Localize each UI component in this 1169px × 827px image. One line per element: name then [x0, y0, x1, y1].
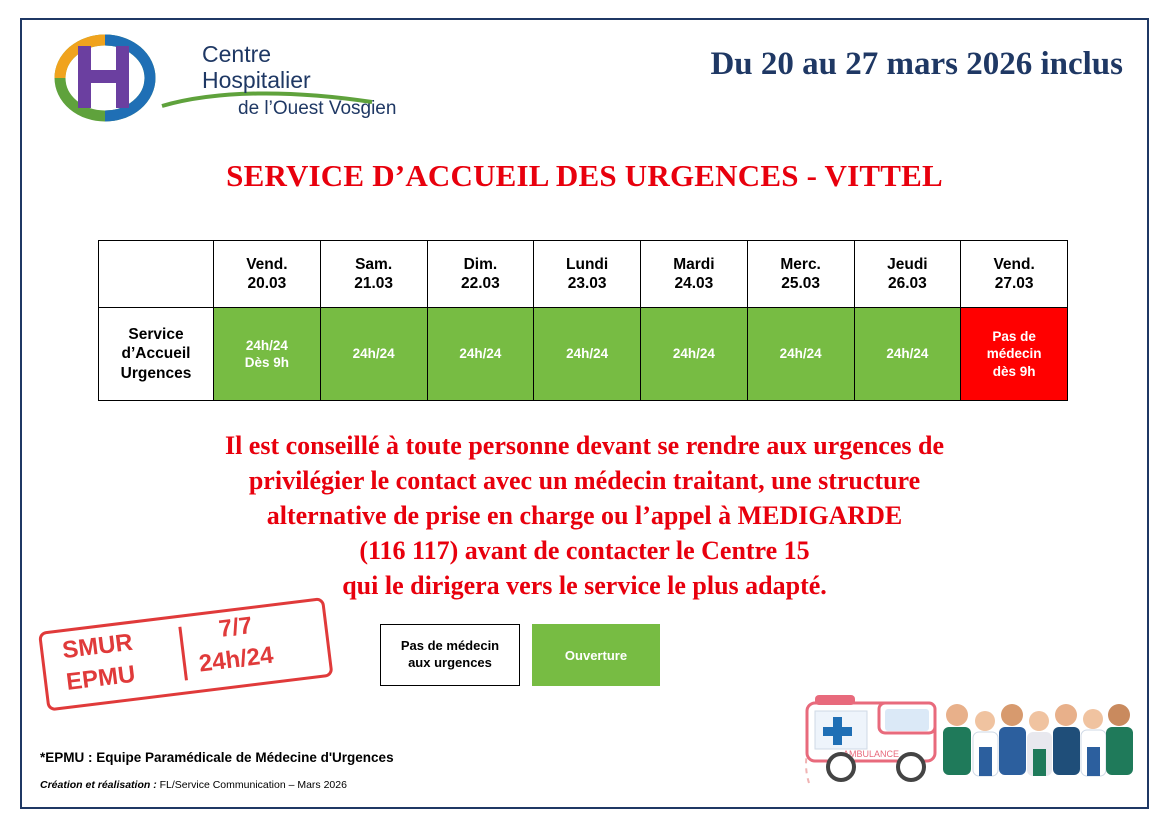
- advice-line-4: (116 117) avant de contacter le Centre 1…: [60, 533, 1109, 568]
- legend-open-label: Ouverture: [565, 648, 627, 663]
- advice-paragraph: Il est conseillé à toute personne devant…: [60, 428, 1109, 603]
- col-day-label: Merc.: [750, 255, 852, 274]
- legend-no-doctor: Pas de médecin aux urgences: [380, 624, 520, 686]
- logo-line1-text: Centre: [202, 41, 271, 67]
- table-header-row: Vend. 20.03 Sam. 21.03 Dim. 22.03 Lund: [99, 241, 1068, 308]
- cell-line1: 24h/24: [536, 345, 638, 362]
- col-day-label: Dim.: [430, 255, 532, 274]
- col-day-label: Sam.: [323, 255, 425, 274]
- col-date-label: 23.03: [536, 274, 638, 293]
- table-col-header: Jeudi 26.03: [854, 241, 961, 308]
- advice-line-3: alternative de prise en charge ou l’appe…: [60, 498, 1109, 533]
- cell-line2: Dès 9h: [216, 354, 318, 371]
- schedule-cell: 24h/24: [641, 308, 748, 401]
- legend-no-doctor-line2: aux urgences: [401, 655, 499, 672]
- table-col-header: Dim. 22.03: [427, 241, 534, 308]
- footnote-credit-bold: Création et réalisation :: [40, 779, 157, 791]
- col-day-label: Lundi: [536, 255, 638, 274]
- col-date-label: 26.03: [857, 274, 959, 293]
- advice-line-1: Il est conseillé à toute personne devant…: [60, 428, 1109, 463]
- table-col-header: Vend. 20.03: [214, 241, 321, 308]
- table-col-header: Mardi 24.03: [641, 241, 748, 308]
- legend-no-doctor-line1: Pas de médecin: [401, 638, 499, 655]
- logo-line3-text: de l’Ouest Vosgien: [238, 98, 396, 119]
- schedule-cell: 24h/24: [427, 308, 534, 401]
- cell-line3: dès 9h: [963, 363, 1065, 380]
- cell-line1: Pas de: [963, 328, 1065, 345]
- col-date-label: 24.03: [643, 274, 745, 293]
- poster-content: Centre Hospitalier de l’Ouest Vosgien Du…: [20, 18, 1149, 809]
- row-label-line2: d’Accueil: [101, 344, 211, 363]
- legend-open: Ouverture: [532, 624, 660, 686]
- stamp-days-label: 7/7: [217, 612, 254, 644]
- col-day-label: Mardi: [643, 255, 745, 274]
- advice-line-5: qui le dirigera vers le service le plus …: [60, 568, 1109, 603]
- table-row: Service d’Accueil Urgences 24h/24 Dès 9h…: [99, 308, 1068, 401]
- footnote-credit-rest: FL/Service Communication – Mars 2026: [157, 779, 347, 791]
- col-date-label: 27.03: [963, 274, 1065, 293]
- table-corner-cell: [99, 241, 214, 308]
- schedule-cell: 24h/24: [854, 308, 961, 401]
- schedule-table-wrapper: Vend. 20.03 Sam. 21.03 Dim. 22.03 Lund: [98, 240, 1068, 401]
- cell-line1: 24h/24: [430, 345, 532, 362]
- ambulance-staff-illustration: AMBULANCE: [779, 655, 1139, 805]
- col-date-label: 22.03: [430, 274, 532, 293]
- cell-line1: 24h/24: [643, 345, 745, 362]
- cell-line1: 24h/24: [216, 337, 318, 354]
- schedule-cell: 24h/24 Dès 9h: [214, 308, 321, 401]
- footnote-credit: Création et réalisation : FL/Service Com…: [40, 779, 347, 791]
- schedule-cell: 24h/24: [747, 308, 854, 401]
- col-date-label: 20.03: [216, 274, 318, 293]
- cell-line2: médecin: [963, 345, 1065, 362]
- cell-line1: 24h/24: [323, 345, 425, 362]
- table-col-header: Sam. 21.03: [320, 241, 427, 308]
- table-col-header: Vend. 27.03: [961, 241, 1068, 308]
- advice-line-2: privilégier le contact avec un médecin t…: [60, 463, 1109, 498]
- row-label-line1: Service: [101, 325, 211, 344]
- poster-page: Centre Hospitalier de l’Ouest Vosgien Du…: [0, 0, 1169, 827]
- col-date-label: 21.03: [323, 274, 425, 293]
- schedule-cell: 24h/24: [320, 308, 427, 401]
- table-col-header: Lundi 23.03: [534, 241, 641, 308]
- cell-line1: 24h/24: [750, 345, 852, 362]
- col-day-label: Vend.: [216, 255, 318, 274]
- page-title: SERVICE D’ACCUEIL DES URGENCES - VITTEL: [20, 158, 1149, 194]
- table-col-header: Merc. 25.03: [747, 241, 854, 308]
- logo-line2-text: Hospitalier: [202, 67, 311, 93]
- row-label-line3: Urgences: [101, 364, 211, 383]
- hospital-logo: Centre Hospitalier de l’Ouest Vosgien: [42, 32, 422, 124]
- schedule-table: Vend. 20.03 Sam. 21.03 Dim. 22.03 Lund: [98, 240, 1068, 401]
- cell-line1: 24h/24: [857, 345, 959, 362]
- header: Centre Hospitalier de l’Ouest Vosgien Du…: [20, 18, 1149, 128]
- row-header-service: Service d’Accueil Urgences: [99, 308, 214, 401]
- schedule-cell-closed: Pas de médecin dès 9h: [961, 308, 1068, 401]
- date-range-title: Du 20 au 27 mars 2026 inclus: [710, 46, 1123, 83]
- footnote-epmu: *EPMU : Equipe Paramédicale de Médecine …: [40, 750, 394, 765]
- col-day-label: Vend.: [963, 255, 1065, 274]
- col-day-label: Jeudi: [857, 255, 959, 274]
- smur-epmu-stamp: SMUR EPMU 7/7 24h/24: [38, 597, 338, 716]
- col-date-label: 25.03: [750, 274, 852, 293]
- schedule-cell: 24h/24: [534, 308, 641, 401]
